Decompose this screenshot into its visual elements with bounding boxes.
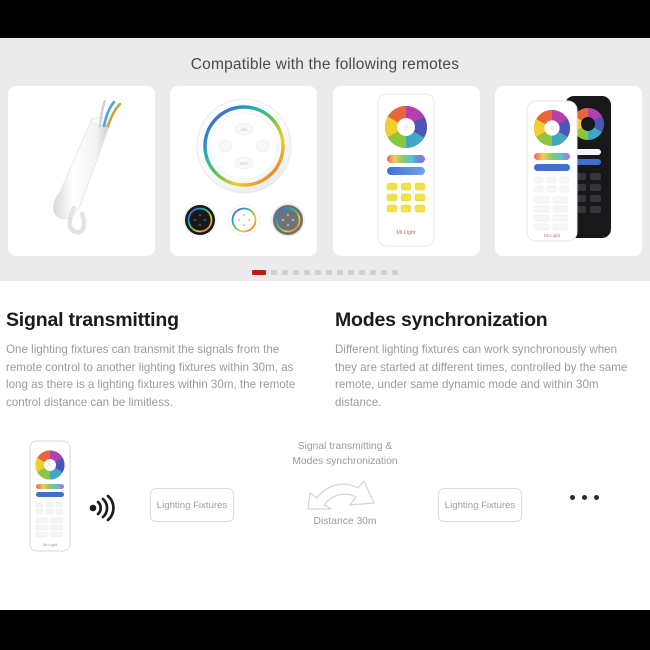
carousel-card-round-color-panel[interactable]: ON OFF — [170, 86, 317, 256]
feature-heading: Modes synchronization — [335, 309, 642, 332]
feature-columns: Signal transmitting One lighting fixture… — [0, 281, 650, 411]
diagram-remote: Mi·Light — [28, 439, 72, 558]
round-color-panel-remote-icon: ON OFF — [174, 91, 314, 251]
white-keypad-remote-icon: Mi·Light — [374, 91, 438, 251]
carousel-dot[interactable] — [304, 270, 310, 275]
carousel-dot[interactable] — [271, 270, 277, 275]
carousel-card-white-antenna-receiver[interactable] — [8, 86, 155, 256]
compatible-remotes-carousel: Compatible with the following remotes — [0, 38, 650, 281]
carousel-title: Compatible with the following remotes — [0, 50, 650, 86]
carousel-dot[interactable] — [359, 270, 365, 275]
arrow-sublabel: Distance 30m — [270, 515, 420, 530]
diagram-arrow-group: Signal transmitting & Modes synchronizat… — [270, 440, 420, 530]
signal-wave-icon — [87, 493, 117, 528]
feature-modes-synchronization: Modes synchronization Different lighting… — [335, 309, 642, 411]
more-fixtures-ellipsis — [570, 495, 599, 500]
signal-flow-diagram: Mi·Light Lighting Fixtures Signal transm… — [0, 437, 650, 610]
carousel-dot[interactable] — [326, 270, 332, 275]
carousel-dot[interactable] — [293, 270, 299, 275]
svg-text:Mi·Light: Mi·Light — [43, 542, 58, 547]
white-antenna-receiver-icon — [22, 96, 142, 246]
svg-text:Mi·Light: Mi·Light — [544, 233, 561, 238]
carousel-card-list: ON OFF — [0, 86, 650, 256]
lighting-fixtures-box-2: Lighting Fixtures — [438, 488, 522, 522]
carousel-pagination[interactable] — [0, 270, 650, 275]
ellipsis-dot — [594, 495, 599, 500]
carousel-dot[interactable] — [392, 270, 398, 275]
carousel-dot[interactable] — [370, 270, 376, 275]
feature-heading: Signal transmitting — [6, 309, 313, 332]
carousel-dot-active[interactable] — [252, 270, 266, 275]
carousel-dot[interactable] — [381, 270, 387, 275]
carousel-card-white-keypad-remote[interactable]: Mi·Light — [333, 86, 480, 256]
lighting-fixtures-box-1: Lighting Fixtures — [150, 488, 234, 522]
curved-arrow-icon — [300, 473, 390, 513]
feature-body: Different lighting fixtures can work syn… — [335, 341, 642, 411]
ellipsis-dot — [570, 495, 575, 500]
feature-signal-transmitting: Signal transmitting One lighting fixture… — [6, 309, 313, 411]
svg-text:OFF: OFF — [240, 161, 249, 166]
bottom-letterbox-bar — [0, 610, 650, 650]
ellipsis-dot — [582, 495, 587, 500]
lighting-fixtures-label: Lighting Fixtures — [157, 500, 227, 511]
page-content: Compatible with the following remotes — [0, 38, 650, 610]
white-black-remote-pair-icon: Mi·Light — [513, 91, 623, 251]
svg-text:Mi·Light: Mi·Light — [397, 230, 417, 236]
feature-body: One lighting fixtures can transmit the s… — [6, 341, 313, 411]
svg-text:ON: ON — [241, 127, 247, 132]
carousel-dot[interactable] — [348, 270, 354, 275]
remote-control-icon: Mi·Light — [28, 439, 72, 553]
carousel-dot[interactable] — [337, 270, 343, 275]
arrow-label-line2: Modes synchronization — [270, 455, 420, 470]
arrow-label-line1: Signal transmitting & — [270, 440, 420, 455]
lighting-fixtures-label: Lighting Fixtures — [445, 500, 515, 511]
carousel-dot[interactable] — [315, 270, 321, 275]
carousel-card-white-black-remote-pair[interactable]: Mi·Light — [495, 86, 642, 256]
top-letterbox-bar — [0, 0, 650, 38]
carousel-dot[interactable] — [282, 270, 288, 275]
